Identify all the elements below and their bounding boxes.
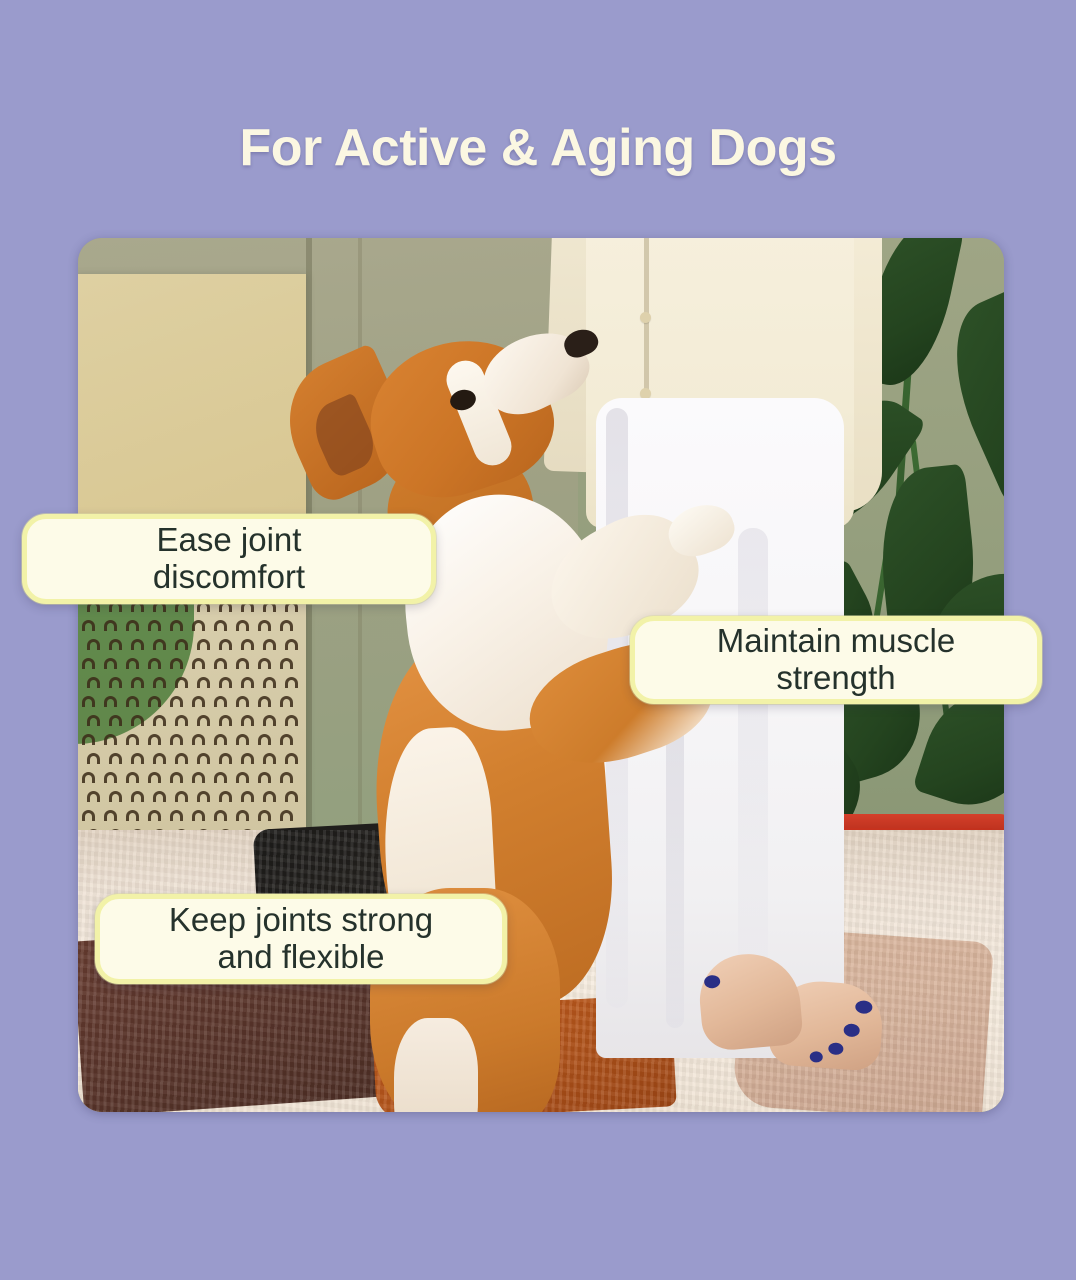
arch-mark-icon — [236, 696, 249, 707]
arch-pattern-row — [80, 772, 300, 783]
arch-mark-icon — [126, 734, 139, 745]
arch-mark-icon — [192, 772, 205, 783]
arch-mark-icon — [109, 753, 122, 764]
arch-mark-icon — [153, 677, 166, 688]
toenail — [855, 1000, 873, 1014]
arch-pattern-row — [85, 639, 300, 650]
arch-pattern-row — [85, 715, 300, 726]
arch-mark-icon — [241, 791, 254, 802]
arch-mark-icon — [258, 696, 271, 707]
arch-mark-icon — [126, 658, 139, 669]
arch-mark-icon — [87, 791, 100, 802]
toenail — [843, 1023, 860, 1037]
arch-mark-icon — [87, 677, 100, 688]
feature-line-2: strength — [717, 660, 955, 697]
arch-mark-icon — [197, 715, 210, 726]
arch-mark-icon — [175, 639, 188, 650]
dog-hind-white-fur — [394, 1018, 478, 1112]
arch-mark-icon — [241, 715, 254, 726]
arch-mark-icon — [104, 810, 117, 821]
arch-mark-icon — [192, 620, 205, 631]
arch-mark-icon — [170, 734, 183, 745]
arch-mark-icon — [236, 620, 249, 631]
arch-mark-icon — [131, 639, 144, 650]
arch-mark-icon — [192, 658, 205, 669]
arch-mark-icon — [148, 620, 161, 631]
arch-mark-icon — [170, 810, 183, 821]
feature-pill-maintain-muscle-strength: Maintain muscle strength — [630, 616, 1042, 704]
arch-mark-icon — [148, 658, 161, 669]
arch-mark-icon — [192, 696, 205, 707]
toenail — [809, 1051, 823, 1063]
arch-mark-icon — [131, 791, 144, 802]
arch-mark-icon — [214, 772, 227, 783]
arch-pattern-row — [80, 696, 300, 707]
arch-pattern-row — [80, 810, 300, 821]
arch-mark-icon — [109, 639, 122, 650]
arch-mark-icon — [109, 715, 122, 726]
arch-mark-icon — [219, 791, 232, 802]
arch-mark-icon — [170, 696, 183, 707]
arch-mark-icon — [87, 639, 100, 650]
arch-mark-icon — [82, 810, 95, 821]
arch-pattern-row — [85, 791, 300, 802]
arch-mark-icon — [219, 715, 232, 726]
arch-mark-icon — [258, 620, 271, 631]
arch-mark-icon — [170, 620, 183, 631]
corgi-dog — [274, 328, 694, 1112]
arch-mark-icon — [170, 772, 183, 783]
arch-mark-icon — [197, 639, 210, 650]
arch-mark-icon — [104, 734, 117, 745]
arch-mark-icon — [131, 753, 144, 764]
toenail — [828, 1042, 844, 1055]
arch-pattern-row — [80, 620, 300, 631]
arch-mark-icon — [197, 791, 210, 802]
arch-mark-icon — [236, 810, 249, 821]
arch-mark-icon — [236, 772, 249, 783]
arch-mark-icon — [148, 734, 161, 745]
arch-mark-icon — [148, 772, 161, 783]
toenail — [704, 975, 721, 989]
arch-mark-icon — [82, 620, 95, 631]
arch-mark-icon — [258, 734, 271, 745]
arch-mark-icon — [131, 677, 144, 688]
feature-pill-ease-joint-discomfort: Ease joint discomfort — [22, 514, 436, 604]
arch-mark-icon — [153, 715, 166, 726]
arch-mark-icon — [214, 810, 227, 821]
feature-line-1: Maintain muscle — [717, 623, 955, 660]
arch-mark-icon — [214, 696, 227, 707]
arch-mark-icon — [104, 772, 117, 783]
arch-mark-icon — [170, 658, 183, 669]
arch-mark-icon — [214, 734, 227, 745]
arch-mark-icon — [258, 658, 271, 669]
arch-mark-icon — [104, 658, 117, 669]
arch-mark-icon — [219, 753, 232, 764]
arch-mark-icon — [126, 696, 139, 707]
arch-mark-icon — [175, 677, 188, 688]
arch-mark-icon — [109, 791, 122, 802]
arch-mark-icon — [104, 696, 117, 707]
arch-pattern-row — [85, 677, 300, 688]
arch-mark-icon — [175, 715, 188, 726]
arch-mark-icon — [241, 677, 254, 688]
arch-mark-icon — [82, 696, 95, 707]
arch-pattern-row — [80, 658, 300, 669]
feature-line-2: and flexible — [169, 939, 433, 976]
arch-mark-icon — [153, 753, 166, 764]
arch-mark-icon — [192, 734, 205, 745]
arch-mark-icon — [258, 810, 271, 821]
arch-mark-icon — [175, 753, 188, 764]
feature-pill-keep-joints-strong-and-flexible: Keep joints strong and flexible — [95, 894, 507, 984]
arch-mark-icon — [153, 791, 166, 802]
page-title: For Active & Aging Dogs — [0, 118, 1076, 178]
arch-mark-icon — [87, 715, 100, 726]
arch-mark-icon — [82, 772, 95, 783]
arch-mark-icon — [258, 772, 271, 783]
arch-mark-icon — [241, 753, 254, 764]
feature-line-1: Keep joints strong — [169, 902, 433, 939]
arch-mark-icon — [148, 810, 161, 821]
arch-mark-icon — [126, 620, 139, 631]
arch-mark-icon — [192, 810, 205, 821]
arch-mark-icon — [214, 620, 227, 631]
arch-mark-icon — [109, 677, 122, 688]
pants-fold — [738, 528, 768, 998]
feature-line-2: discomfort — [153, 559, 305, 596]
arch-mark-icon — [126, 810, 139, 821]
arch-mark-icon — [82, 658, 95, 669]
arch-mark-icon — [236, 734, 249, 745]
arch-mark-icon — [148, 696, 161, 707]
shirt-button — [640, 312, 651, 323]
arch-mark-icon — [214, 658, 227, 669]
arch-mark-icon — [236, 658, 249, 669]
arch-mark-icon — [153, 639, 166, 650]
arch-mark-icon — [126, 772, 139, 783]
feature-line-1: Ease joint — [153, 522, 305, 559]
arch-mark-icon — [87, 753, 100, 764]
arch-pattern-row — [80, 734, 300, 745]
arch-mark-icon — [82, 734, 95, 745]
arch-mark-icon — [197, 753, 210, 764]
arch-mark-icon — [219, 639, 232, 650]
arch-mark-icon — [175, 791, 188, 802]
arch-mark-icon — [219, 677, 232, 688]
arch-mark-icon — [131, 715, 144, 726]
arch-mark-icon — [241, 639, 254, 650]
arch-mark-icon — [197, 677, 210, 688]
arch-mark-icon — [104, 620, 117, 631]
arch-pattern-row — [85, 753, 300, 764]
